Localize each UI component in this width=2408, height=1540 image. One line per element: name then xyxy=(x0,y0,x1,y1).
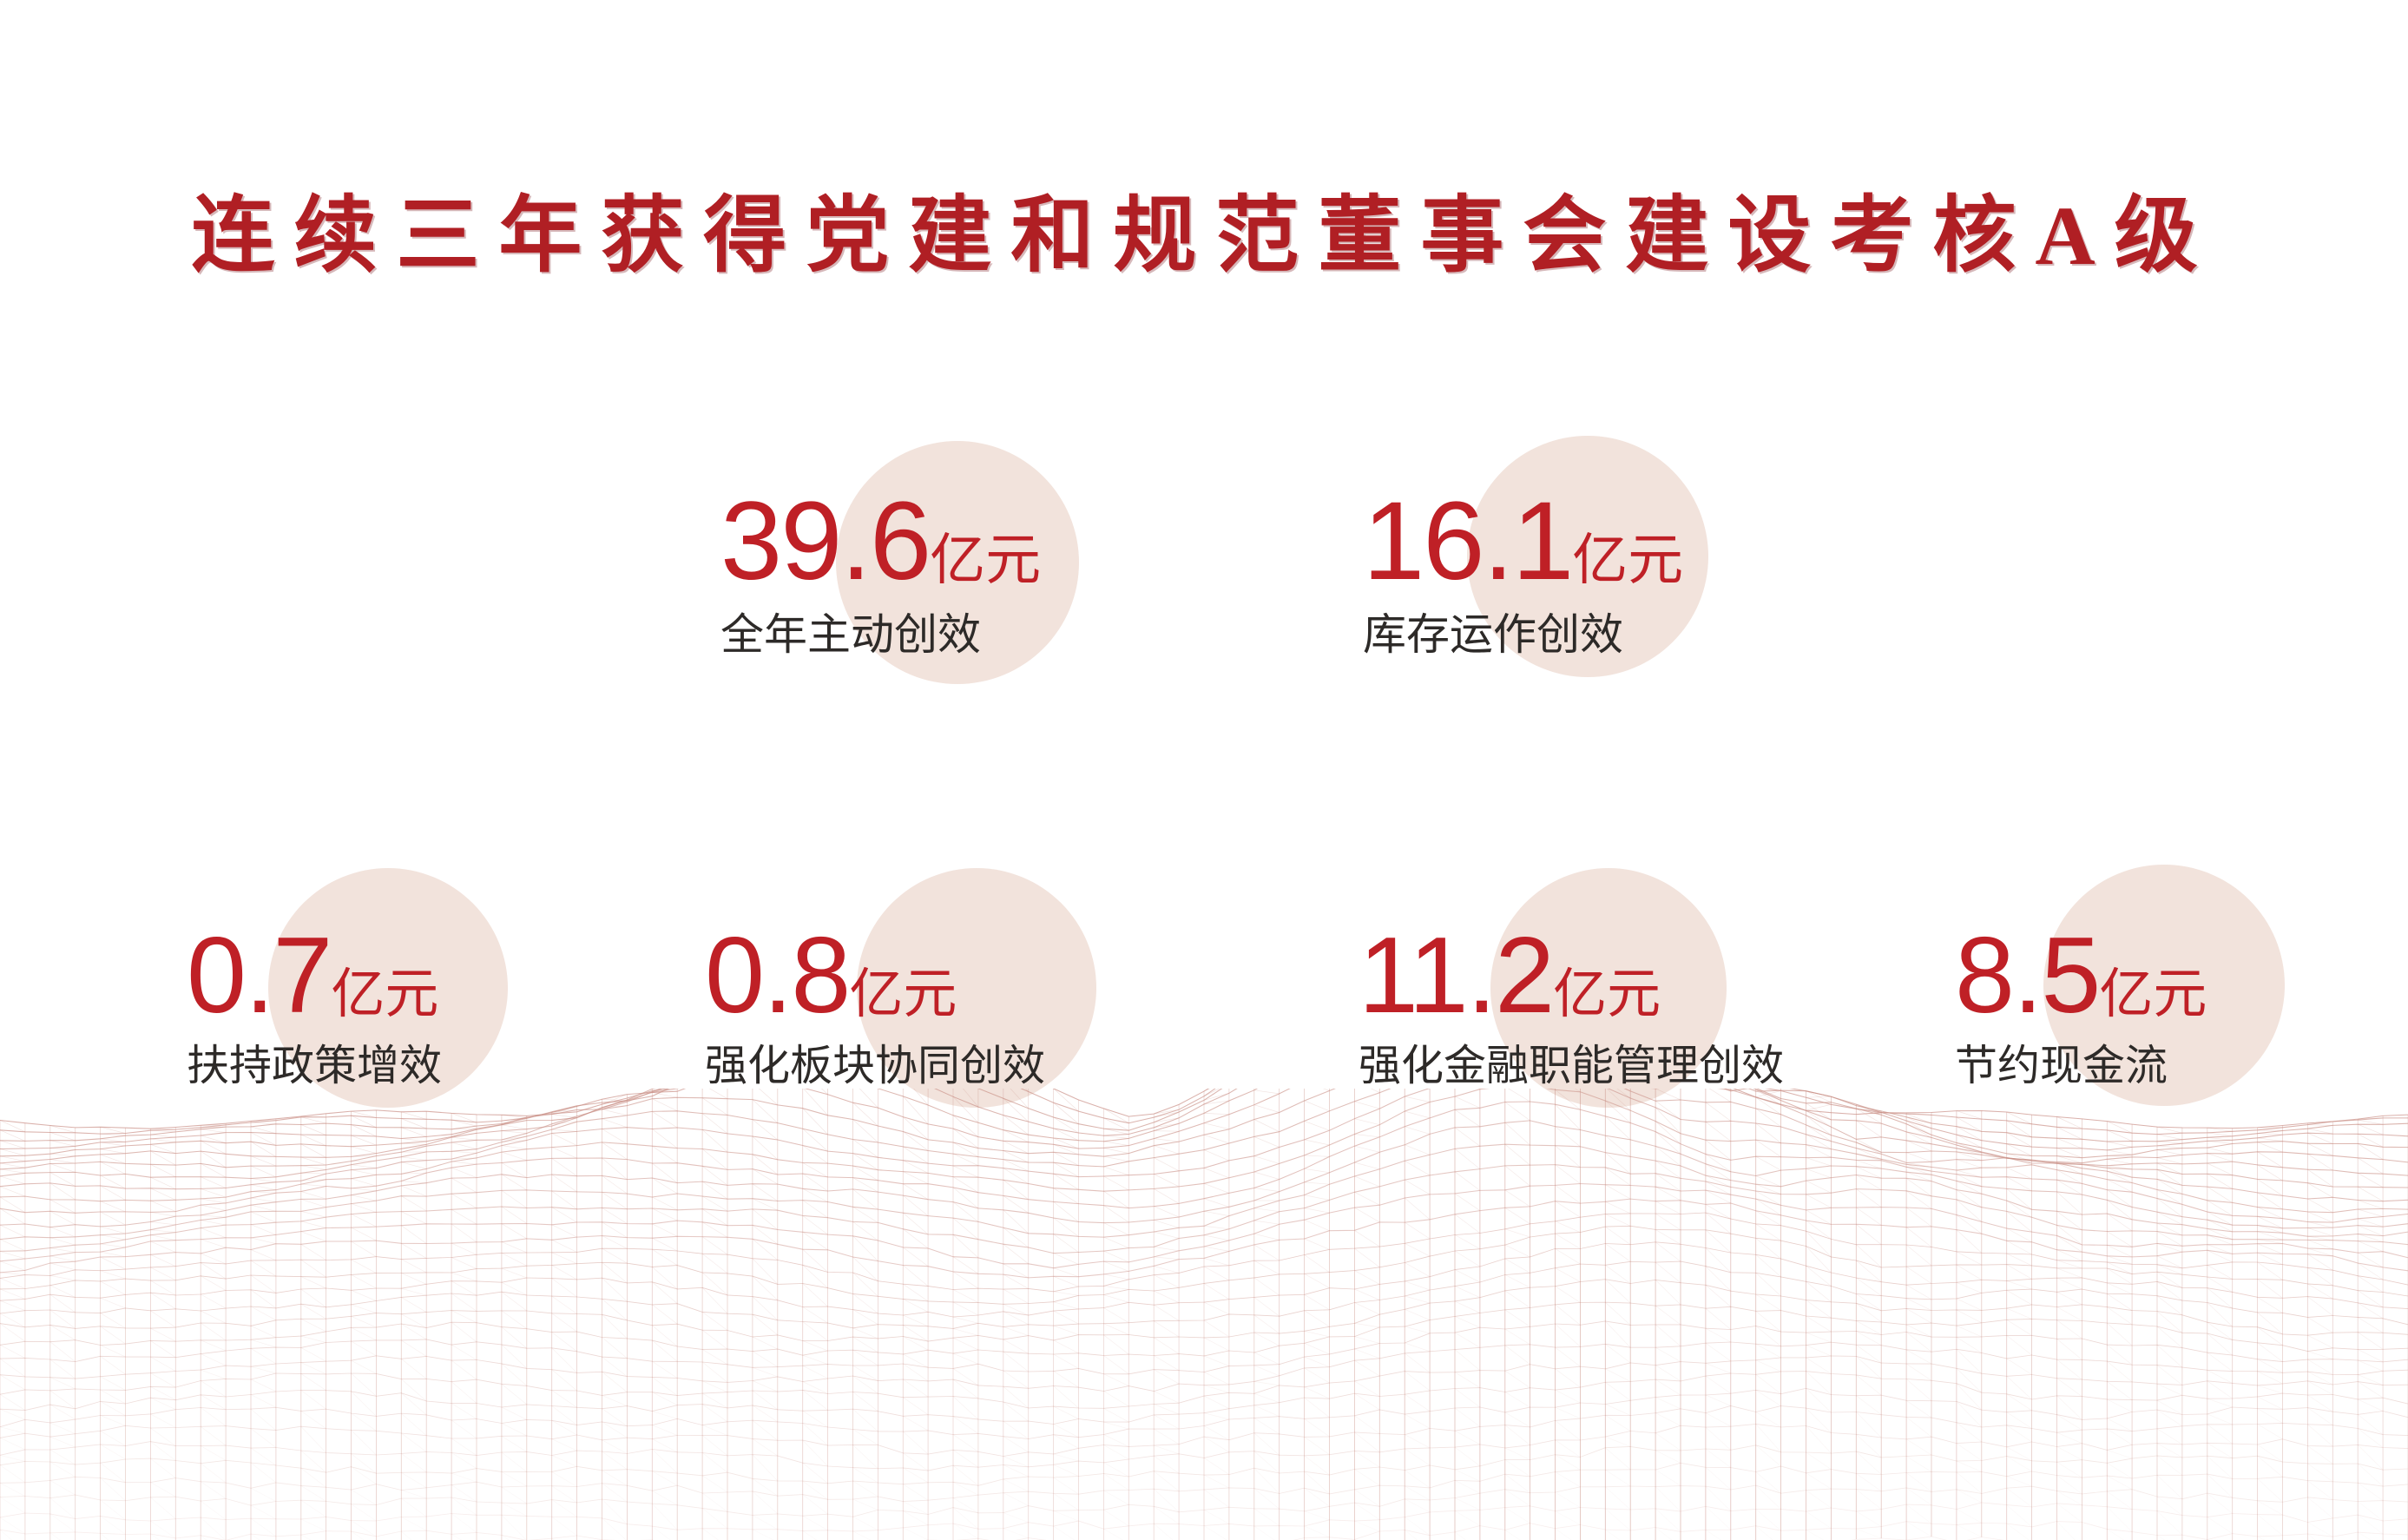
stat-value-line: 16.1亿元 xyxy=(1363,486,1683,597)
page-title: 连续三年获得党建和规范董事会建设考核A级 xyxy=(0,193,2408,280)
stat-value: 39.6 xyxy=(720,479,930,603)
stat-value-line: 8.5亿元 xyxy=(1955,922,2207,1030)
stat-block-cash-flow-savings: 8.5亿元 节约现金流 xyxy=(1955,922,2207,1090)
stat-value-line: 11.2亿元 xyxy=(1359,922,1784,1030)
stat-unit: 亿元 xyxy=(849,964,957,1024)
stat-block-annual-active-value-creation: 39.6亿元 全年主动创效 xyxy=(720,486,1041,659)
stat-unit: 亿元 xyxy=(331,964,438,1024)
infographic-canvas: 连续三年获得党建和规范董事会建设考核A级 39.6亿元 全年主动创效 16.1亿… xyxy=(0,0,2408,1540)
stat-label: 强化金融职能管理创效 xyxy=(1359,1043,1784,1090)
stat-value: 0.7 xyxy=(187,916,331,1036)
stat-value: 11.2 xyxy=(1359,916,1553,1036)
stat-content: 0.7亿元 扶持政策增效 xyxy=(187,922,442,1090)
stat-label: 全年主动创效 xyxy=(720,611,1041,659)
stat-block-financial-function-management-value-creation: 11.2亿元 强化金融职能管理创效 xyxy=(1359,922,1784,1090)
stat-content: 16.1亿元 库存运作创效 xyxy=(1363,486,1683,659)
stat-unit: 亿元 xyxy=(1572,529,1683,591)
stat-value: 16.1 xyxy=(1363,479,1572,603)
stat-label: 库存运作创效 xyxy=(1363,611,1683,659)
stat-value: 0.8 xyxy=(705,916,849,1036)
stat-content: 0.8亿元 强化板块协同创效 xyxy=(705,922,1045,1090)
stat-unit: 亿元 xyxy=(2099,964,2207,1024)
stat-value: 8.5 xyxy=(1955,916,2099,1036)
stat-value-line: 0.7亿元 xyxy=(187,922,442,1030)
stat-value-line: 0.8亿元 xyxy=(705,922,1045,1030)
stat-label: 节约现金流 xyxy=(1955,1043,2207,1090)
stat-value-line: 39.6亿元 xyxy=(720,486,1041,597)
stat-content: 11.2亿元 强化金融职能管理创效 xyxy=(1359,922,1784,1090)
stat-content: 39.6亿元 全年主动创效 xyxy=(720,486,1041,659)
stat-unit: 亿元 xyxy=(930,529,1041,591)
stat-label: 强化板块协同创效 xyxy=(705,1043,1045,1090)
stat-label: 扶持政策增效 xyxy=(187,1043,442,1090)
wireframe-terrain-mesh-icon xyxy=(0,1089,2408,1540)
stat-block-inventory-operation-value-creation: 16.1亿元 库存运作创效 xyxy=(1363,486,1683,659)
stat-block-support-policy-gain: 0.7亿元 扶持政策增效 xyxy=(187,922,442,1090)
stat-content: 8.5亿元 节约现金流 xyxy=(1955,922,2207,1090)
stat-unit: 亿元 xyxy=(1553,964,1661,1024)
stat-block-segment-synergy-value-creation: 0.8亿元 强化板块协同创效 xyxy=(705,922,1045,1090)
